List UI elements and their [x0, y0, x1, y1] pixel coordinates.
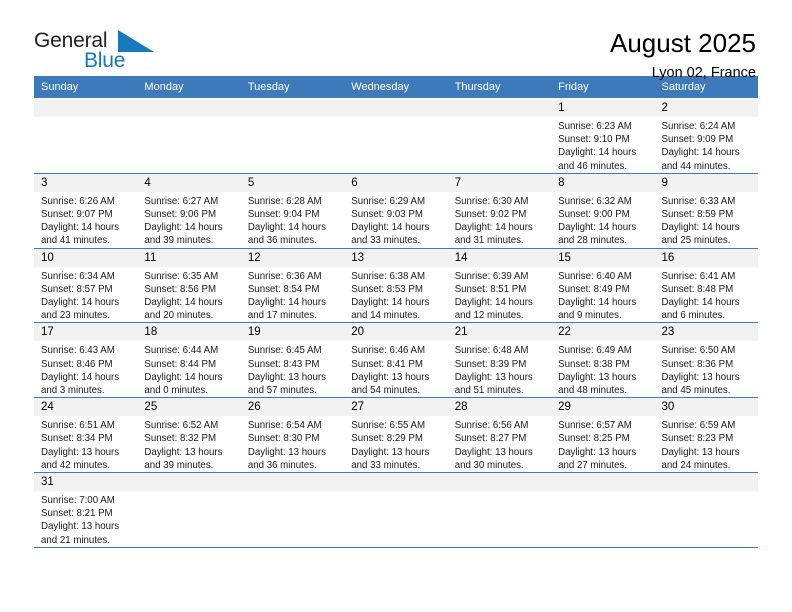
- day-number: 25: [137, 398, 240, 416]
- sunset-text: Sunset: 8:44 PM: [144, 358, 234, 371]
- daylight-text-line2: and 17 minutes.: [248, 309, 338, 322]
- day-details: Sunrise: 6:24 AM Sunset: 9:09 PM Dayligh…: [655, 117, 758, 173]
- day-cell[interactable]: 19 Sunrise: 6:45 AM Sunset: 8:43 PM Dayl…: [241, 323, 344, 398]
- daylight-text-line2: and 36 minutes.: [248, 234, 338, 247]
- daylight-text-line1: Daylight: 14 hours: [351, 296, 441, 309]
- general-blue-logo[interactable]: General Blue: [34, 28, 159, 76]
- day-details: Sunrise: 6:48 AM Sunset: 8:39 PM Dayligh…: [448, 341, 551, 397]
- day-number: 30: [655, 398, 758, 416]
- day-details: Sunrise: 6:33 AM Sunset: 8:59 PM Dayligh…: [655, 192, 758, 248]
- sunrise-sunset-calendar-table: Sunday Monday Tuesday Wednesday Thursday…: [34, 76, 758, 548]
- day-details: Sunrise: 6:55 AM Sunset: 8:29 PM Dayligh…: [344, 416, 447, 472]
- day-details: Sunrise: 7:00 AM Sunset: 8:21 PM Dayligh…: [34, 491, 137, 547]
- sunset-text: Sunset: 9:02 PM: [455, 208, 545, 221]
- day-number: 15: [551, 249, 654, 267]
- daylight-text-line2: and 33 minutes.: [351, 459, 441, 472]
- daylight-text-line1: Daylight: 14 hours: [455, 296, 545, 309]
- daylight-text-line1: Daylight: 13 hours: [662, 446, 752, 459]
- day-cell[interactable]: [241, 99, 344, 174]
- day-cell[interactable]: 5 Sunrise: 6:28 AM Sunset: 9:04 PM Dayli…: [241, 173, 344, 248]
- sunset-text: Sunset: 8:41 PM: [351, 358, 441, 371]
- day-number: [34, 99, 137, 117]
- daylight-text-line1: Daylight: 13 hours: [144, 446, 234, 459]
- day-number: 4: [137, 174, 240, 192]
- daylight-text-line2: and 45 minutes.: [662, 384, 752, 397]
- daylight-text-line2: and 27 minutes.: [558, 459, 648, 472]
- sunrise-text: Sunrise: 6:57 AM: [558, 419, 648, 432]
- daylight-text-line1: Daylight: 13 hours: [248, 371, 338, 384]
- sunrise-text: Sunrise: 6:54 AM: [248, 419, 338, 432]
- daylight-text-line1: Daylight: 13 hours: [41, 446, 131, 459]
- daylight-text-line2: and 41 minutes.: [41, 234, 131, 247]
- day-number: 22: [551, 323, 654, 341]
- sunset-text: Sunset: 8:43 PM: [248, 358, 338, 371]
- day-number: 11: [137, 249, 240, 267]
- day-details: Sunrise: 6:56 AM Sunset: 8:27 PM Dayligh…: [448, 416, 551, 472]
- daylight-text-line1: Daylight: 14 hours: [41, 221, 131, 234]
- column-header-wednesday: Wednesday: [344, 76, 447, 99]
- calendar-body: 1 Sunrise: 6:23 AM Sunset: 9:10 PM Dayli…: [34, 99, 758, 548]
- day-number: 10: [34, 249, 137, 267]
- daylight-text-line2: and 57 minutes.: [248, 384, 338, 397]
- daylight-text-line1: Daylight: 14 hours: [558, 296, 648, 309]
- day-details: Sunrise: 6:43 AM Sunset: 8:46 PM Dayligh…: [34, 341, 137, 397]
- daylight-text-line1: Daylight: 13 hours: [41, 520, 131, 533]
- daylight-text-line2: and 14 minutes.: [351, 309, 441, 322]
- daylight-text-line2: and 44 minutes.: [662, 160, 752, 173]
- day-number: 16: [655, 249, 758, 267]
- day-cell[interactable]: [344, 473, 447, 548]
- daylight-text-line2: and 25 minutes.: [662, 234, 752, 247]
- sunrise-text: Sunrise: 6:44 AM: [144, 344, 234, 357]
- day-number: [448, 99, 551, 117]
- daylight-text-line1: Daylight: 14 hours: [455, 221, 545, 234]
- sunset-text: Sunset: 9:06 PM: [144, 208, 234, 221]
- sunrise-text: Sunrise: 6:48 AM: [455, 344, 545, 357]
- day-number: 14: [448, 249, 551, 267]
- day-cell[interactable]: 14 Sunrise: 6:39 AM Sunset: 8:51 PM Dayl…: [448, 248, 551, 323]
- day-details: Sunrise: 6:46 AM Sunset: 8:41 PM Dayligh…: [344, 341, 447, 397]
- day-details: Sunrise: 6:32 AM Sunset: 9:00 PM Dayligh…: [551, 192, 654, 248]
- day-details: Sunrise: 6:51 AM Sunset: 8:34 PM Dayligh…: [34, 416, 137, 472]
- page-title: August 2025: [610, 28, 756, 58]
- brand-name-blue: Blue: [84, 50, 125, 71]
- day-details: Sunrise: 6:39 AM Sunset: 8:51 PM Dayligh…: [448, 267, 551, 323]
- day-cell[interactable]: 10 Sunrise: 6:34 AM Sunset: 8:57 PM Dayl…: [34, 248, 137, 323]
- day-cell[interactable]: 20 Sunrise: 6:46 AM Sunset: 8:41 PM Dayl…: [344, 323, 447, 398]
- sunrise-text: Sunrise: 6:52 AM: [144, 419, 234, 432]
- day-cell[interactable]: 30 Sunrise: 6:59 AM Sunset: 8:23 PM Dayl…: [655, 398, 758, 473]
- day-number: [137, 473, 240, 491]
- day-cell[interactable]: 3 Sunrise: 6:26 AM Sunset: 9:07 PM Dayli…: [34, 173, 137, 248]
- day-cell[interactable]: [655, 473, 758, 548]
- day-cell[interactable]: 26 Sunrise: 6:54 AM Sunset: 8:30 PM Dayl…: [241, 398, 344, 473]
- day-cell[interactable]: 7 Sunrise: 6:30 AM Sunset: 9:02 PM Dayli…: [448, 173, 551, 248]
- day-details: Sunrise: 6:44 AM Sunset: 8:44 PM Dayligh…: [137, 341, 240, 397]
- daylight-text-line1: Daylight: 13 hours: [558, 371, 648, 384]
- sunset-text: Sunset: 8:57 PM: [41, 283, 131, 296]
- day-details: Sunrise: 6:36 AM Sunset: 8:54 PM Dayligh…: [241, 267, 344, 323]
- sunrise-text: Sunrise: 7:00 AM: [41, 494, 131, 507]
- day-cell[interactable]: 2 Sunrise: 6:24 AM Sunset: 9:09 PM Dayli…: [655, 99, 758, 174]
- day-cell[interactable]: 12 Sunrise: 6:36 AM Sunset: 8:54 PM Dayl…: [241, 248, 344, 323]
- daylight-text-line2: and 24 minutes.: [662, 459, 752, 472]
- daylight-text-line1: Daylight: 13 hours: [455, 446, 545, 459]
- day-cell[interactable]: [551, 473, 654, 548]
- day-details: Sunrise: 6:54 AM Sunset: 8:30 PM Dayligh…: [241, 416, 344, 472]
- day-number: [241, 473, 344, 491]
- day-number: [344, 473, 447, 491]
- sunrise-text: Sunrise: 6:41 AM: [662, 270, 752, 283]
- sunset-text: Sunset: 8:36 PM: [662, 358, 752, 371]
- daylight-text-line2: and 20 minutes.: [144, 309, 234, 322]
- day-cell[interactable]: 9 Sunrise: 6:33 AM Sunset: 8:59 PM Dayli…: [655, 173, 758, 248]
- day-number: [551, 473, 654, 491]
- sunset-text: Sunset: 9:04 PM: [248, 208, 338, 221]
- daylight-text-line1: Daylight: 14 hours: [351, 221, 441, 234]
- sunset-text: Sunset: 8:32 PM: [144, 432, 234, 445]
- day-details: Sunrise: 6:40 AM Sunset: 8:49 PM Dayligh…: [551, 267, 654, 323]
- day-details: Sunrise: 6:34 AM Sunset: 8:57 PM Dayligh…: [34, 267, 137, 323]
- day-cell[interactable]: 13 Sunrise: 6:38 AM Sunset: 8:53 PM Dayl…: [344, 248, 447, 323]
- sunset-text: Sunset: 8:46 PM: [41, 358, 131, 371]
- day-number: 5: [241, 174, 344, 192]
- daylight-text-line1: Daylight: 14 hours: [144, 371, 234, 384]
- day-cell[interactable]: 21 Sunrise: 6:48 AM Sunset: 8:39 PM Dayl…: [448, 323, 551, 398]
- sunrise-text: Sunrise: 6:43 AM: [41, 344, 131, 357]
- sunset-text: Sunset: 8:53 PM: [351, 283, 441, 296]
- sunset-text: Sunset: 8:25 PM: [558, 432, 648, 445]
- calendar-week-row: 17 Sunrise: 6:43 AM Sunset: 8:46 PM Dayl…: [34, 323, 758, 398]
- day-number: 6: [344, 174, 447, 192]
- sunset-text: Sunset: 8:51 PM: [455, 283, 545, 296]
- daylight-text-line1: Daylight: 14 hours: [662, 146, 752, 159]
- day-details: Sunrise: 6:35 AM Sunset: 8:56 PM Dayligh…: [137, 267, 240, 323]
- day-cell[interactable]: 23 Sunrise: 6:50 AM Sunset: 8:36 PM Dayl…: [655, 323, 758, 398]
- day-cell[interactable]: 8 Sunrise: 6:32 AM Sunset: 9:00 PM Dayli…: [551, 173, 654, 248]
- sunset-text: Sunset: 8:48 PM: [662, 283, 752, 296]
- day-number: 28: [448, 398, 551, 416]
- daylight-text-line1: Daylight: 13 hours: [455, 371, 545, 384]
- sunset-text: Sunset: 8:59 PM: [662, 208, 752, 221]
- daylight-text-line1: Daylight: 14 hours: [41, 371, 131, 384]
- daylight-text-line1: Daylight: 14 hours: [248, 221, 338, 234]
- calendar-week-row: 1 Sunrise: 6:23 AM Sunset: 9:10 PM Dayli…: [34, 99, 758, 174]
- day-cell[interactable]: 28 Sunrise: 6:56 AM Sunset: 8:27 PM Dayl…: [448, 398, 551, 473]
- daylight-text-line2: and 39 minutes.: [144, 234, 234, 247]
- daylight-text-line1: Daylight: 13 hours: [662, 371, 752, 384]
- day-cell[interactable]: 29 Sunrise: 6:57 AM Sunset: 8:25 PM Dayl…: [551, 398, 654, 473]
- daylight-text-line1: Daylight: 14 hours: [41, 296, 131, 309]
- day-details: Sunrise: 6:57 AM Sunset: 8:25 PM Dayligh…: [551, 416, 654, 472]
- sunrise-text: Sunrise: 6:28 AM: [248, 195, 338, 208]
- sunrise-text: Sunrise: 6:45 AM: [248, 344, 338, 357]
- day-number: 24: [34, 398, 137, 416]
- calendar-page: General Blue August 2025 Lyon 02, France…: [0, 0, 792, 612]
- day-number: [344, 99, 447, 117]
- sunset-text: Sunset: 8:39 PM: [455, 358, 545, 371]
- day-number: [241, 99, 344, 117]
- daylight-text-line2: and 33 minutes.: [351, 234, 441, 247]
- day-number: [448, 473, 551, 491]
- title-block: August 2025 Lyon 02, France: [610, 28, 758, 83]
- sunset-text: Sunset: 8:56 PM: [144, 283, 234, 296]
- sunrise-text: Sunrise: 6:32 AM: [558, 195, 648, 208]
- sunrise-text: Sunrise: 6:35 AM: [144, 270, 234, 283]
- calendar-week-row: 31 Sunrise: 7:00 AM Sunset: 8:21 PM Dayl…: [34, 473, 758, 548]
- sunset-text: Sunset: 8:23 PM: [662, 432, 752, 445]
- day-cell[interactable]: 16 Sunrise: 6:41 AM Sunset: 8:48 PM Dayl…: [655, 248, 758, 323]
- daylight-text-line1: Daylight: 14 hours: [558, 221, 648, 234]
- sunrise-text: Sunrise: 6:49 AM: [558, 344, 648, 357]
- day-number: 7: [448, 174, 551, 192]
- sunrise-text: Sunrise: 6:26 AM: [41, 195, 131, 208]
- calendar-week-row: 24 Sunrise: 6:51 AM Sunset: 8:34 PM Dayl…: [34, 398, 758, 473]
- sunrise-text: Sunrise: 6:55 AM: [351, 419, 441, 432]
- sunrise-text: Sunrise: 6:36 AM: [248, 270, 338, 283]
- day-details: Sunrise: 6:23 AM Sunset: 9:10 PM Dayligh…: [551, 117, 654, 173]
- sunset-text: Sunset: 9:07 PM: [41, 208, 131, 221]
- daylight-text-line2: and 23 minutes.: [41, 309, 131, 322]
- daylight-text-line2: and 6 minutes.: [662, 309, 752, 322]
- day-details: Sunrise: 6:26 AM Sunset: 9:07 PM Dayligh…: [34, 192, 137, 248]
- sunset-text: Sunset: 8:29 PM: [351, 432, 441, 445]
- day-cell[interactable]: 18 Sunrise: 6:44 AM Sunset: 8:44 PM Dayl…: [137, 323, 240, 398]
- column-header-tuesday: Tuesday: [241, 76, 344, 99]
- daylight-text-line1: Daylight: 13 hours: [351, 371, 441, 384]
- day-details: Sunrise: 6:45 AM Sunset: 8:43 PM Dayligh…: [241, 341, 344, 397]
- sunrise-text: Sunrise: 6:33 AM: [662, 195, 752, 208]
- day-cell[interactable]: [448, 99, 551, 174]
- day-number: 9: [655, 174, 758, 192]
- sunset-text: Sunset: 8:21 PM: [41, 507, 131, 520]
- day-cell[interactable]: [34, 99, 137, 174]
- day-number: 26: [241, 398, 344, 416]
- daylight-text-line1: Daylight: 14 hours: [662, 221, 752, 234]
- sunrise-text: Sunrise: 6:40 AM: [558, 270, 648, 283]
- day-number: 23: [655, 323, 758, 341]
- sunrise-text: Sunrise: 6:50 AM: [662, 344, 752, 357]
- daylight-text-line2: and 9 minutes.: [558, 309, 648, 322]
- calendar-week-row: 3 Sunrise: 6:26 AM Sunset: 9:07 PM Dayli…: [34, 173, 758, 248]
- sunset-text: Sunset: 8:54 PM: [248, 283, 338, 296]
- daylight-text-line1: Daylight: 13 hours: [558, 446, 648, 459]
- day-number: 2: [655, 99, 758, 117]
- column-header-monday: Monday: [137, 76, 240, 99]
- daylight-text-line2: and 30 minutes.: [455, 459, 545, 472]
- sunrise-text: Sunrise: 6:38 AM: [351, 270, 441, 283]
- day-cell[interactable]: 4 Sunrise: 6:27 AM Sunset: 9:06 PM Dayli…: [137, 173, 240, 248]
- daylight-text-line1: Daylight: 14 hours: [144, 296, 234, 309]
- daylight-text-line2: and 31 minutes.: [455, 234, 545, 247]
- daylight-text-line1: Daylight: 14 hours: [662, 296, 752, 309]
- sunrise-text: Sunrise: 6:27 AM: [144, 195, 234, 208]
- sunrise-text: Sunrise: 6:30 AM: [455, 195, 545, 208]
- day-cell[interactable]: 6 Sunrise: 6:29 AM Sunset: 9:03 PM Dayli…: [344, 173, 447, 248]
- day-number: 3: [34, 174, 137, 192]
- day-details: Sunrise: 6:27 AM Sunset: 9:06 PM Dayligh…: [137, 192, 240, 248]
- day-details: Sunrise: 6:29 AM Sunset: 9:03 PM Dayligh…: [344, 192, 447, 248]
- day-number: 17: [34, 323, 137, 341]
- page-subtitle-location: Lyon 02, France: [610, 63, 756, 83]
- day-cell[interactable]: 27 Sunrise: 6:55 AM Sunset: 8:29 PM Dayl…: [344, 398, 447, 473]
- day-details: Sunrise: 6:59 AM Sunset: 8:23 PM Dayligh…: [655, 416, 758, 472]
- day-cell[interactable]: 1 Sunrise: 6:23 AM Sunset: 9:10 PM Dayli…: [551, 99, 654, 174]
- sunset-text: Sunset: 8:34 PM: [41, 432, 131, 445]
- daylight-text-line1: Daylight: 14 hours: [144, 221, 234, 234]
- daylight-text-line2: and 28 minutes.: [558, 234, 648, 247]
- daylight-text-line2: and 48 minutes.: [558, 384, 648, 397]
- day-number: 12: [241, 249, 344, 267]
- day-cell[interactable]: [448, 473, 551, 548]
- triangle-flag-icon: [118, 30, 158, 52]
- sunset-text: Sunset: 9:03 PM: [351, 208, 441, 221]
- day-cell[interactable]: 11 Sunrise: 6:35 AM Sunset: 8:56 PM Dayl…: [137, 248, 240, 323]
- sunset-text: Sunset: 8:38 PM: [558, 358, 648, 371]
- sunrise-text: Sunrise: 6:34 AM: [41, 270, 131, 283]
- daylight-text-line2: and 39 minutes.: [144, 459, 234, 472]
- sunrise-text: Sunrise: 6:23 AM: [558, 120, 648, 133]
- sunset-text: Sunset: 9:09 PM: [662, 133, 752, 146]
- day-details: Sunrise: 6:28 AM Sunset: 9:04 PM Dayligh…: [241, 192, 344, 248]
- day-details: Sunrise: 6:30 AM Sunset: 9:02 PM Dayligh…: [448, 192, 551, 248]
- day-details: Sunrise: 6:38 AM Sunset: 8:53 PM Dayligh…: [344, 267, 447, 323]
- day-cell[interactable]: 31 Sunrise: 7:00 AM Sunset: 8:21 PM Dayl…: [34, 473, 137, 548]
- column-header-sunday: Sunday: [34, 76, 137, 99]
- sunrise-text: Sunrise: 6:46 AM: [351, 344, 441, 357]
- day-cell[interactable]: [344, 99, 447, 174]
- daylight-text-line2: and 46 minutes.: [558, 160, 648, 173]
- day-number: 8: [551, 174, 654, 192]
- daylight-text-line2: and 54 minutes.: [351, 384, 441, 397]
- masthead: General Blue August 2025 Lyon 02, France: [0, 0, 792, 76]
- sunset-text: Sunset: 8:27 PM: [455, 432, 545, 445]
- day-number: 27: [344, 398, 447, 416]
- day-details: Sunrise: 6:41 AM Sunset: 8:48 PM Dayligh…: [655, 267, 758, 323]
- daylight-text-line2: and 42 minutes.: [41, 459, 131, 472]
- day-number: 13: [344, 249, 447, 267]
- day-cell[interactable]: [137, 99, 240, 174]
- daylight-text-line2: and 12 minutes.: [455, 309, 545, 322]
- day-cell[interactable]: 24 Sunrise: 6:51 AM Sunset: 8:34 PM Dayl…: [34, 398, 137, 473]
- sunset-text: Sunset: 8:49 PM: [558, 283, 648, 296]
- daylight-text-line2: and 21 minutes.: [41, 534, 131, 547]
- day-cell[interactable]: [241, 473, 344, 548]
- sunset-text: Sunset: 9:10 PM: [558, 133, 648, 146]
- day-number: 18: [137, 323, 240, 341]
- daylight-text-line2: and 36 minutes.: [248, 459, 338, 472]
- day-details: Sunrise: 6:50 AM Sunset: 8:36 PM Dayligh…: [655, 341, 758, 397]
- day-cell[interactable]: 17 Sunrise: 6:43 AM Sunset: 8:46 PM Dayl…: [34, 323, 137, 398]
- daylight-text-line1: Daylight: 14 hours: [558, 146, 648, 159]
- day-number: [137, 99, 240, 117]
- sunset-text: Sunset: 9:00 PM: [558, 208, 648, 221]
- day-details: Sunrise: 6:49 AM Sunset: 8:38 PM Dayligh…: [551, 341, 654, 397]
- daylight-text-line2: and 3 minutes.: [41, 384, 131, 397]
- day-cell[interactable]: 15 Sunrise: 6:40 AM Sunset: 8:49 PM Dayl…: [551, 248, 654, 323]
- day-number: 19: [241, 323, 344, 341]
- sunrise-text: Sunrise: 6:51 AM: [41, 419, 131, 432]
- day-number: 31: [34, 473, 137, 491]
- sunrise-text: Sunrise: 6:24 AM: [662, 120, 752, 133]
- daylight-text-line2: and 0 minutes.: [144, 384, 234, 397]
- daylight-text-line1: Daylight: 14 hours: [248, 296, 338, 309]
- calendar-week-row: 10 Sunrise: 6:34 AM Sunset: 8:57 PM Dayl…: [34, 248, 758, 323]
- day-number: 29: [551, 398, 654, 416]
- day-number: [655, 473, 758, 491]
- sunrise-text: Sunrise: 6:29 AM: [351, 195, 441, 208]
- column-header-thursday: Thursday: [448, 76, 551, 99]
- sunrise-text: Sunrise: 6:39 AM: [455, 270, 545, 283]
- sunrise-text: Sunrise: 6:56 AM: [455, 419, 545, 432]
- daylight-text-line1: Daylight: 13 hours: [248, 446, 338, 459]
- day-cell[interactable]: 22 Sunrise: 6:49 AM Sunset: 8:38 PM Dayl…: [551, 323, 654, 398]
- daylight-text-line1: Daylight: 13 hours: [351, 446, 441, 459]
- daylight-text-line2: and 51 minutes.: [455, 384, 545, 397]
- day-cell[interactable]: [137, 473, 240, 548]
- day-number: 21: [448, 323, 551, 341]
- day-cell[interactable]: 25 Sunrise: 6:52 AM Sunset: 8:32 PM Dayl…: [137, 398, 240, 473]
- sunset-text: Sunset: 8:30 PM: [248, 432, 338, 445]
- day-number: 1: [551, 99, 654, 117]
- brand-name-general: General: [34, 30, 107, 51]
- day-number: 20: [344, 323, 447, 341]
- day-details: Sunrise: 6:52 AM Sunset: 8:32 PM Dayligh…: [137, 416, 240, 472]
- sunrise-text: Sunrise: 6:59 AM: [662, 419, 752, 432]
